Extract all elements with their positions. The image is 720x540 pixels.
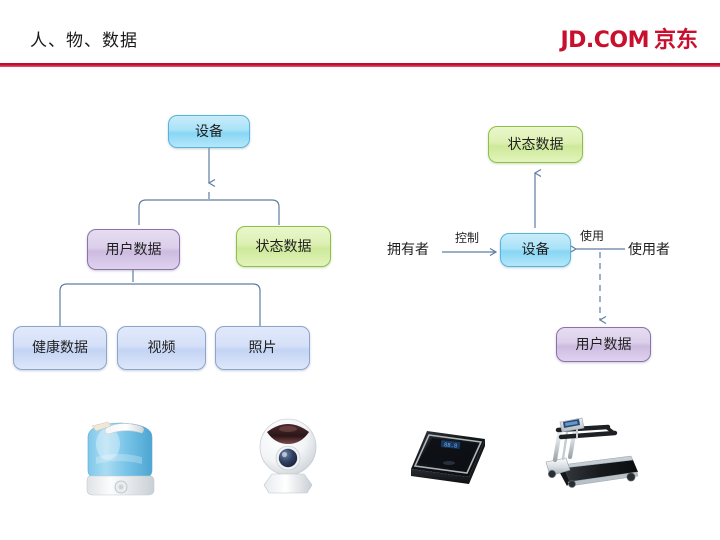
node-label: 视频 (148, 341, 176, 355)
brace2-span (60, 284, 260, 326)
node-label: 用户数据 (576, 338, 632, 352)
node-label: 健康数据 (32, 341, 88, 355)
node-status-data-right[interactable]: 状态数据 (488, 126, 583, 163)
edge-label-control: 控制 (455, 232, 479, 244)
product-humidifier (78, 412, 162, 497)
brace1-span (139, 200, 279, 225)
edge-label-use: 使用 (580, 230, 604, 242)
jd-logo: JD.COM京东 (560, 22, 698, 54)
node-user-data-right[interactable]: 用户数据 (556, 327, 651, 362)
node-user-data-left[interactable]: 用户数据 (87, 229, 180, 270)
actor-user: 使用者 (628, 243, 670, 257)
node-status-data-left[interactable]: 状态数据 (236, 226, 331, 267)
node-label: 状态数据 (508, 138, 564, 152)
node-label: 照片 (249, 341, 277, 355)
node-label: 设备 (195, 125, 223, 139)
page-title: 人、物、数据 (30, 26, 138, 51)
slide-canvas: 人、物、数据 JD.COM京东 (0, 0, 720, 540)
product-treadmill (530, 410, 640, 494)
node-label: 状态数据 (256, 240, 312, 254)
node-video[interactable]: 视频 (117, 326, 206, 370)
node-device-right[interactable]: 设备 (500, 233, 571, 267)
jd-logo-latin: JD.COM (560, 28, 649, 53)
actor-owner: 拥有者 (387, 243, 429, 257)
jd-logo-chinese: 京东 (654, 28, 698, 53)
node-health-data[interactable]: 健康数据 (13, 326, 107, 370)
product-webcam (255, 414, 321, 496)
header-divider (0, 63, 720, 67)
node-label: 设备 (522, 243, 550, 257)
product-smart-scale: 88.8 (405, 425, 491, 491)
node-photo[interactable]: 照片 (215, 326, 310, 370)
node-label: 用户数据 (106, 243, 162, 257)
node-device-left[interactable]: 设备 (168, 115, 250, 148)
